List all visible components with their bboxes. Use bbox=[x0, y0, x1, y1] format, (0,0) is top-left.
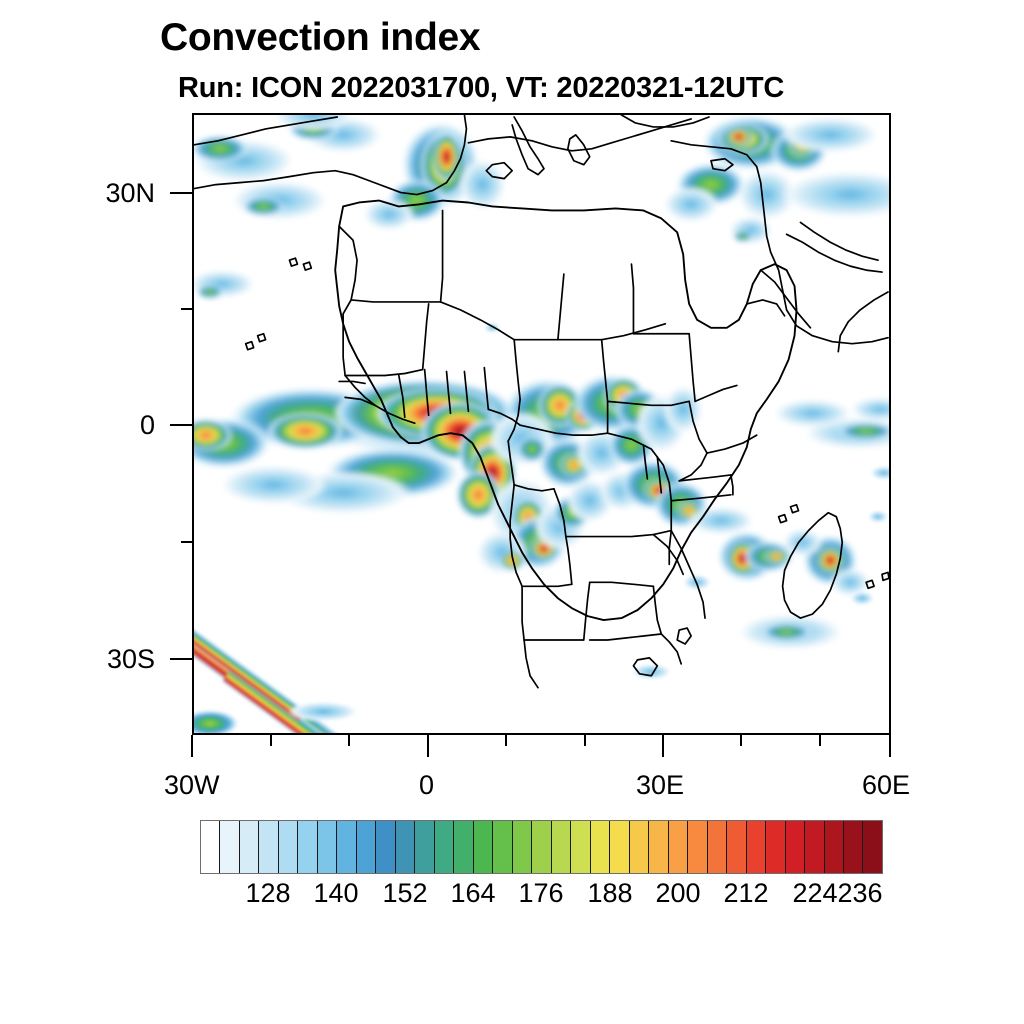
colorbar-swatch-12 bbox=[435, 821, 454, 873]
colorbar bbox=[200, 820, 883, 874]
colorbar-swatch-25 bbox=[688, 821, 707, 873]
y-tick-30s bbox=[170, 658, 192, 660]
colorbar-swatch-17 bbox=[532, 821, 551, 873]
y-tick-15s bbox=[181, 541, 192, 543]
colorbar-swatch-29 bbox=[766, 821, 785, 873]
colorbar-swatch-5 bbox=[298, 821, 317, 873]
colorbar-swatch-16 bbox=[513, 821, 532, 873]
x-tick-30w bbox=[191, 735, 193, 757]
colorbar-swatch-13 bbox=[454, 821, 473, 873]
colorbar-swatch-14 bbox=[474, 821, 493, 873]
x-tick-20w bbox=[270, 735, 272, 746]
convection-index-figure: Convection index Run: ICON 2022031700, V… bbox=[0, 0, 1024, 1024]
colorbar-tick-labels: 128140152164176188200212224236 bbox=[0, 878, 1024, 918]
colorbar-tick-200: 200 bbox=[655, 878, 700, 909]
colorbar-swatch-9 bbox=[376, 821, 395, 873]
colorbar-swatch-24 bbox=[669, 821, 688, 873]
colorbar-swatch-2 bbox=[240, 821, 259, 873]
coastline-overlay bbox=[194, 115, 889, 733]
colorbar-swatch-4 bbox=[279, 821, 298, 873]
y-axis-label-30s: 30S bbox=[40, 644, 155, 675]
colorbar-swatch-15 bbox=[493, 821, 512, 873]
y-tick-0 bbox=[170, 424, 192, 426]
colorbar-swatch-21 bbox=[610, 821, 629, 873]
colorbar-swatch-34 bbox=[863, 821, 881, 873]
colorbar-swatch-32 bbox=[825, 821, 844, 873]
colorbar-swatch-27 bbox=[727, 821, 746, 873]
x-tick-10w bbox=[348, 735, 350, 746]
y-tick-15n bbox=[181, 308, 192, 310]
x-tick-40e bbox=[740, 735, 742, 746]
colorbar-tick-140: 140 bbox=[313, 878, 358, 909]
colorbar-swatch-8 bbox=[357, 821, 376, 873]
colorbar-swatch-18 bbox=[552, 821, 571, 873]
colorbar-swatch-7 bbox=[337, 821, 356, 873]
colorbar-tick-224: 224 bbox=[792, 878, 837, 909]
colorbar-tick-236: 236 bbox=[837, 878, 882, 909]
x-axis-label-30w: 30W bbox=[164, 770, 220, 801]
x-tick-20e bbox=[584, 735, 586, 746]
colorbar-swatches bbox=[200, 820, 883, 874]
colorbar-tick-188: 188 bbox=[587, 878, 632, 909]
colorbar-swatch-20 bbox=[591, 821, 610, 873]
colorbar-swatch-23 bbox=[649, 821, 668, 873]
colorbar-tick-212: 212 bbox=[723, 878, 768, 909]
y-axis-label-0: 0 bbox=[40, 410, 155, 441]
colorbar-swatch-33 bbox=[844, 821, 863, 873]
x-tick-50e bbox=[819, 735, 821, 746]
colorbar-tick-164: 164 bbox=[450, 878, 495, 909]
colorbar-tick-152: 152 bbox=[382, 878, 427, 909]
colorbar-swatch-26 bbox=[708, 821, 727, 873]
x-tick-60e bbox=[889, 735, 891, 757]
x-axis-label-30e: 30E bbox=[636, 770, 684, 801]
x-axis-label-60e: 60E bbox=[862, 770, 910, 801]
colorbar-swatch-1 bbox=[220, 821, 239, 873]
colorbar-swatch-0 bbox=[201, 821, 220, 873]
map-clip bbox=[194, 115, 889, 733]
colorbar-swatch-19 bbox=[571, 821, 590, 873]
x-tick-0 bbox=[427, 735, 429, 757]
colorbar-tick-176: 176 bbox=[518, 878, 563, 909]
colorbar-swatch-6 bbox=[318, 821, 337, 873]
y-tick-30n bbox=[170, 192, 192, 194]
colorbar-tick-128: 128 bbox=[245, 878, 290, 909]
colorbar-swatch-10 bbox=[396, 821, 415, 873]
colorbar-swatch-11 bbox=[415, 821, 434, 873]
y-axis-label-30n: 30N bbox=[40, 178, 155, 209]
map-panel bbox=[192, 113, 891, 735]
colorbar-swatch-22 bbox=[630, 821, 649, 873]
x-axis-label-0: 0 bbox=[419, 770, 434, 801]
x-tick-10e bbox=[505, 735, 507, 746]
colorbar-swatch-28 bbox=[747, 821, 766, 873]
page-title: Convection index bbox=[160, 16, 480, 60]
colorbar-swatch-3 bbox=[259, 821, 278, 873]
figure-subtitle: Run: ICON 2022031700, VT: 20220321-12UTC bbox=[178, 72, 784, 105]
colorbar-swatch-30 bbox=[786, 821, 805, 873]
colorbar-swatch-31 bbox=[805, 821, 824, 873]
x-tick-30e bbox=[662, 735, 664, 757]
